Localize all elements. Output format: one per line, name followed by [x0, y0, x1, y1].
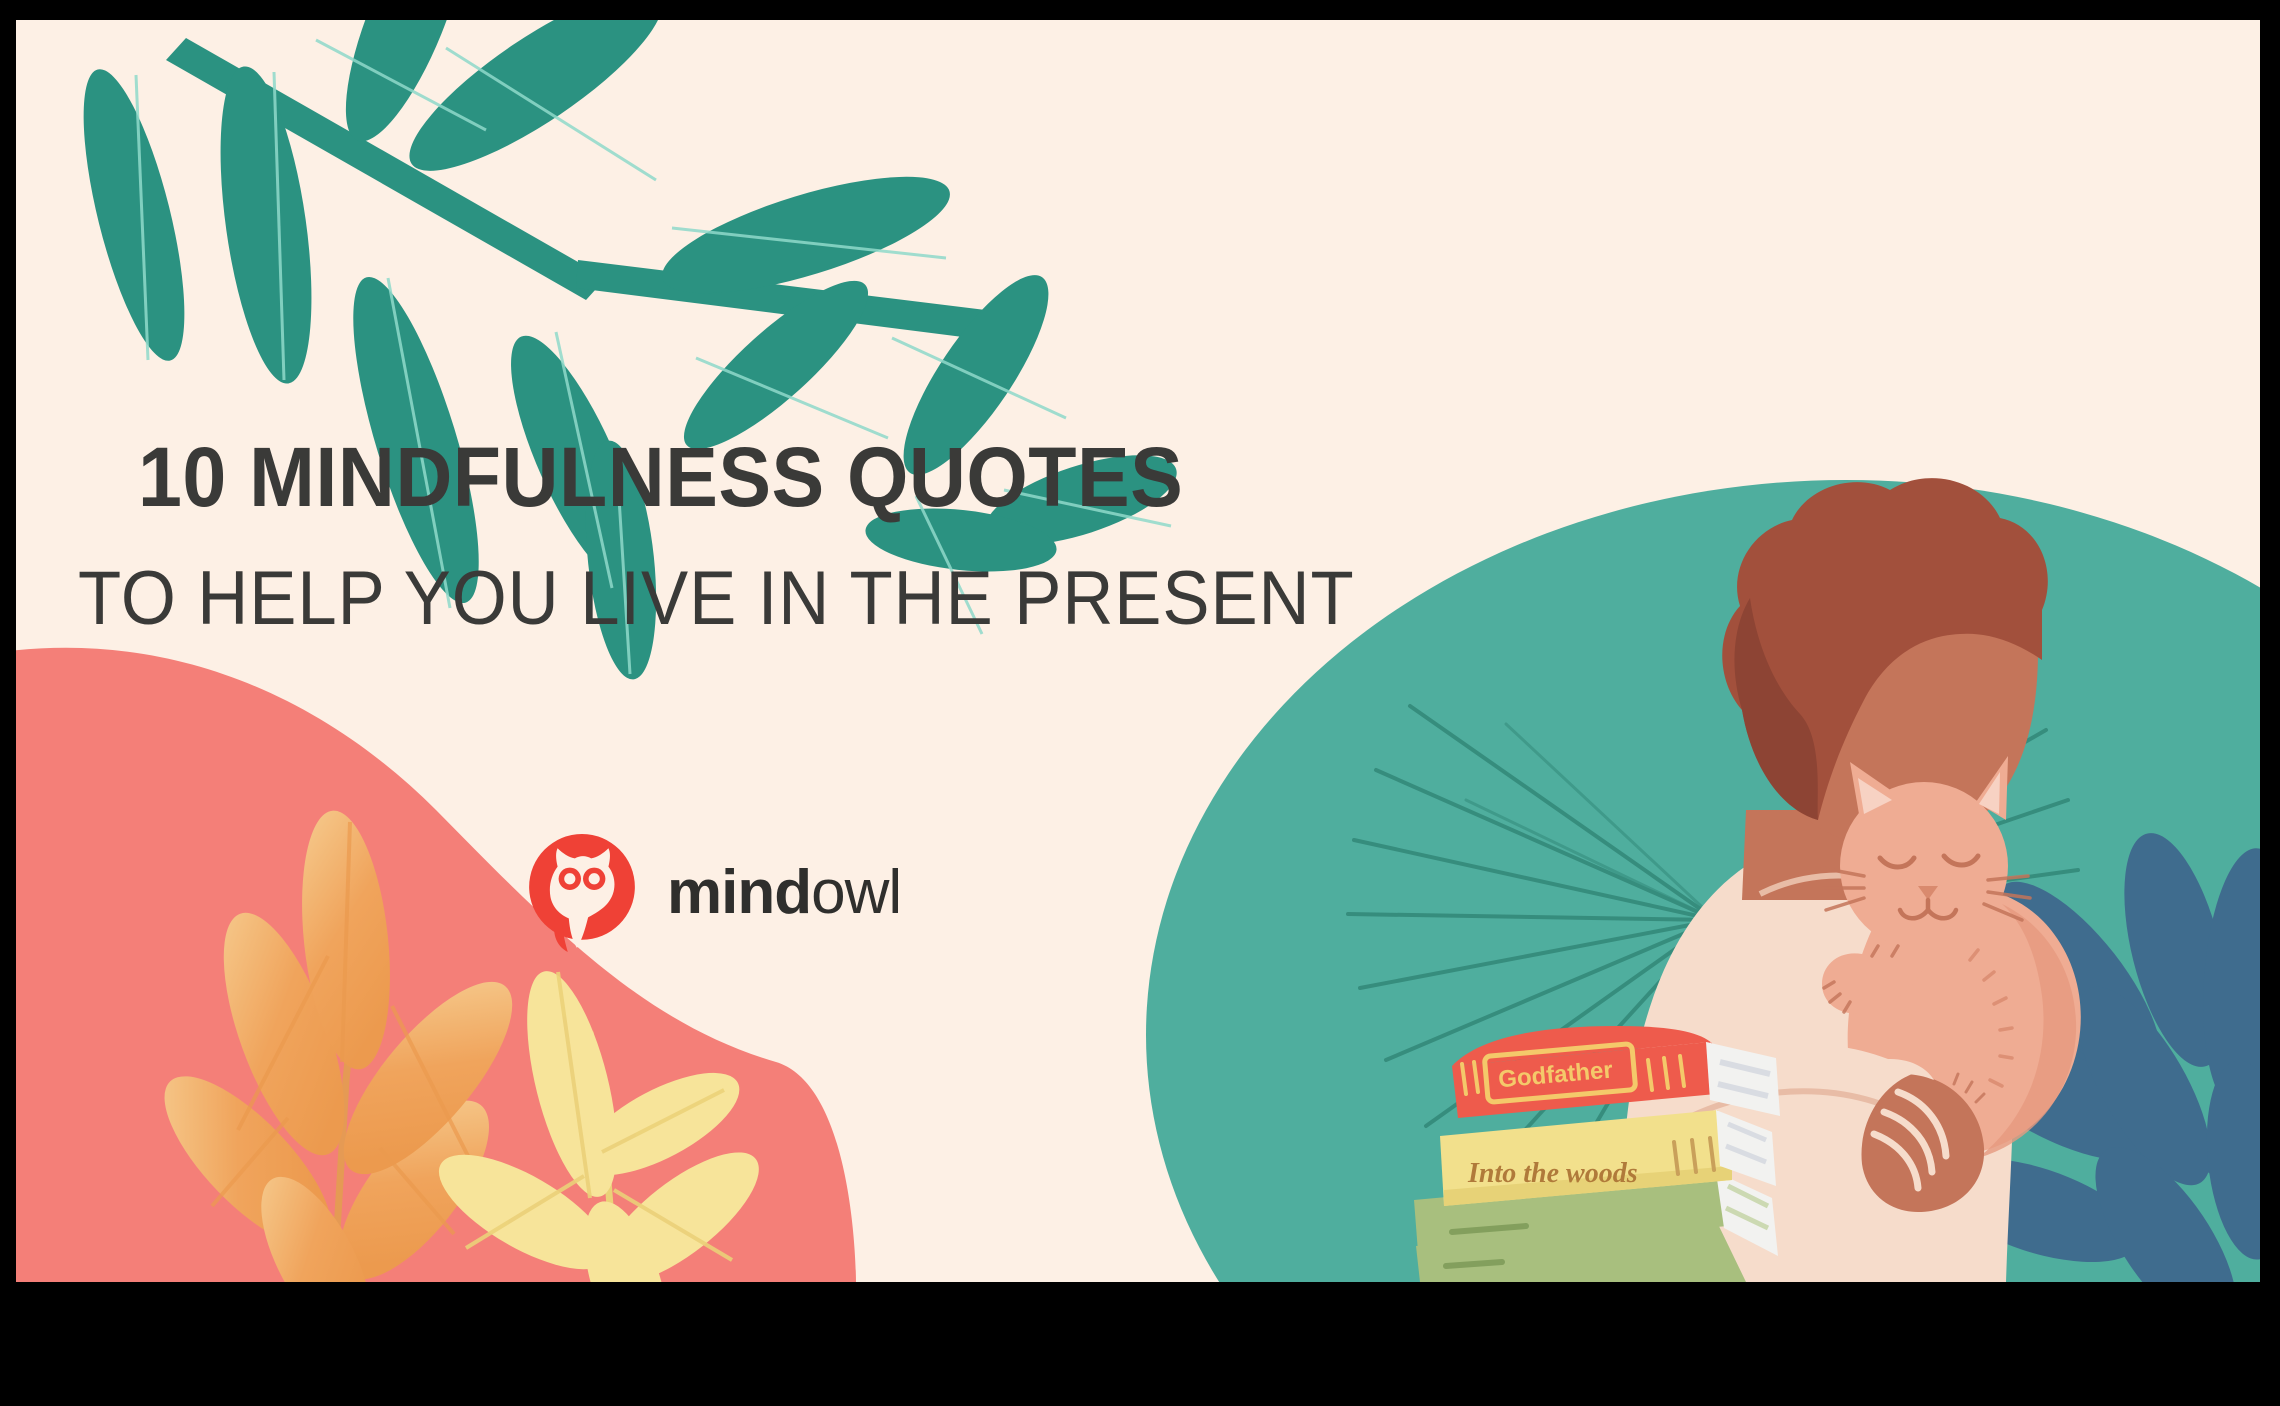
slide-canvas: Into the woods — [16, 20, 2260, 1282]
background-artwork: Into the woods — [16, 20, 2260, 1282]
book-stack: Into the woods — [1414, 1026, 1780, 1282]
brand-logo[interactable]: mindowl — [521, 832, 901, 954]
headline-block: 10 MINDFULNESS QUOTES TO HELP YOU LIVE I… — [78, 435, 1408, 637]
brand-name-bold: mind — [667, 858, 811, 927]
screenshot-frame: Into the woods — [0, 0, 2280, 1406]
page-subtitle: TO HELP YOU LIVE IN THE PRESENT — [78, 561, 1315, 637]
owl-icon — [521, 832, 643, 954]
book-title-yellow: Into the woods — [1467, 1158, 1638, 1189]
brand-name-light: owl — [811, 858, 901, 927]
brand-wordmark: mindowl — [667, 862, 901, 924]
page-title: 10 MINDFULNESS QUOTES — [138, 435, 1332, 519]
